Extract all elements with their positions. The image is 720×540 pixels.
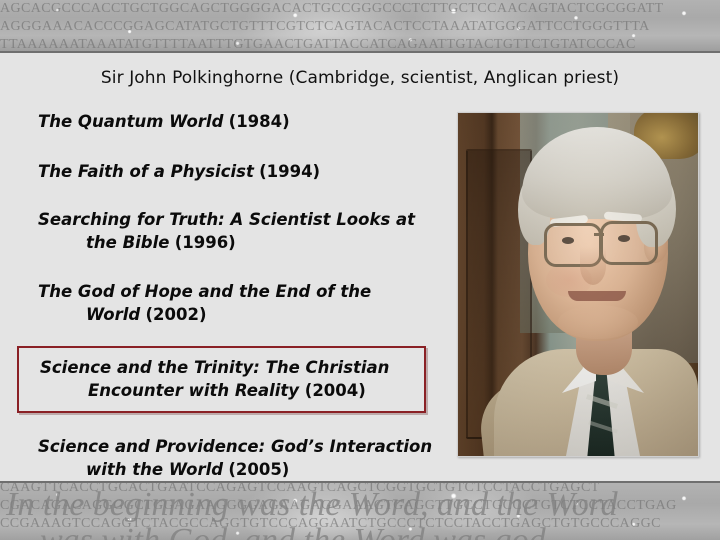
presentation-slide: AGCACGCCCACCTGCTGGCAGCTGGGGACACTGCCGGGCC… (0, 0, 720, 540)
book-title: Searching for Truth: A Scientist Looks a… (38, 210, 415, 229)
highlighted-book-list-item[interactable]: Science and the Trinity: The Christian E… (17, 346, 426, 413)
book-list-item: Science and Providence: God’s Interactio… (38, 435, 438, 481)
book-title: The Faith of a Physicist (38, 162, 254, 181)
book-year: (1984) (229, 112, 290, 131)
dna-line: AGCACGCCCACCTGCTGGCAGCTGGGGACACTGCCGGGCC… (0, 0, 720, 18)
bottom-decorative-band: CAAGTTCACCTGCACTGAATCCAGAGTCCAAGTCAGCTCG… (0, 481, 720, 540)
book-title: Science and Providence: God’s Interactio… (38, 437, 432, 456)
verse-text-line-1: In the beginning was the Word, and the W… (6, 487, 720, 523)
book-year: (1996) (175, 233, 236, 252)
dna-line: AGGGAAACACCCGGAGCATATGCTGTTTCGTCTCAGTACA… (0, 18, 720, 36)
portrait-photo (457, 112, 699, 457)
book-title-continued: with the World (86, 460, 223, 479)
book-year: (2004) (305, 381, 366, 400)
slide-title: Sir John Polkinghorne (Cambridge, scient… (0, 68, 720, 88)
book-title-continued: the Bible (86, 233, 169, 252)
book-year: (1994) (259, 162, 320, 181)
book-list-item: The Faith of a Physicist (1994) (38, 160, 438, 183)
book-list-item: The Quantum World (1984) (38, 110, 438, 133)
book-year: (2005) (228, 460, 289, 479)
book-list-item: The God of Hope and the End of the World… (38, 280, 438, 326)
book-title: The God of Hope and the End of the (38, 282, 371, 301)
book-title-continued: Encounter with Reality (88, 381, 305, 400)
book-list: The Quantum World (1984) The Faith of a … (38, 110, 438, 481)
photo-vignette (458, 113, 698, 456)
book-title-continued: World (86, 305, 140, 324)
book-year: (2002) (146, 305, 207, 324)
top-dna-sequence-text: AGCACGCCCACCTGCTGGCAGCTGGGGACACTGCCGGGCC… (0, 0, 720, 53)
book-title: The Quantum World (38, 112, 223, 131)
book-title: Science and the Trinity: The Christian (40, 358, 389, 377)
book-list-item: Searching for Truth: A Scientist Looks a… (38, 208, 438, 254)
verse-text-line-2: was with God, and the Word was god (40, 523, 720, 540)
dna-line: TTAAAAAATAAATATGTTTTAATTTGTGAACTGATTACCA… (0, 36, 720, 53)
top-decorative-band: AGCACGCCCACCTGCTGGCAGCTGGGGACACTGCCGGGCC… (0, 0, 720, 53)
